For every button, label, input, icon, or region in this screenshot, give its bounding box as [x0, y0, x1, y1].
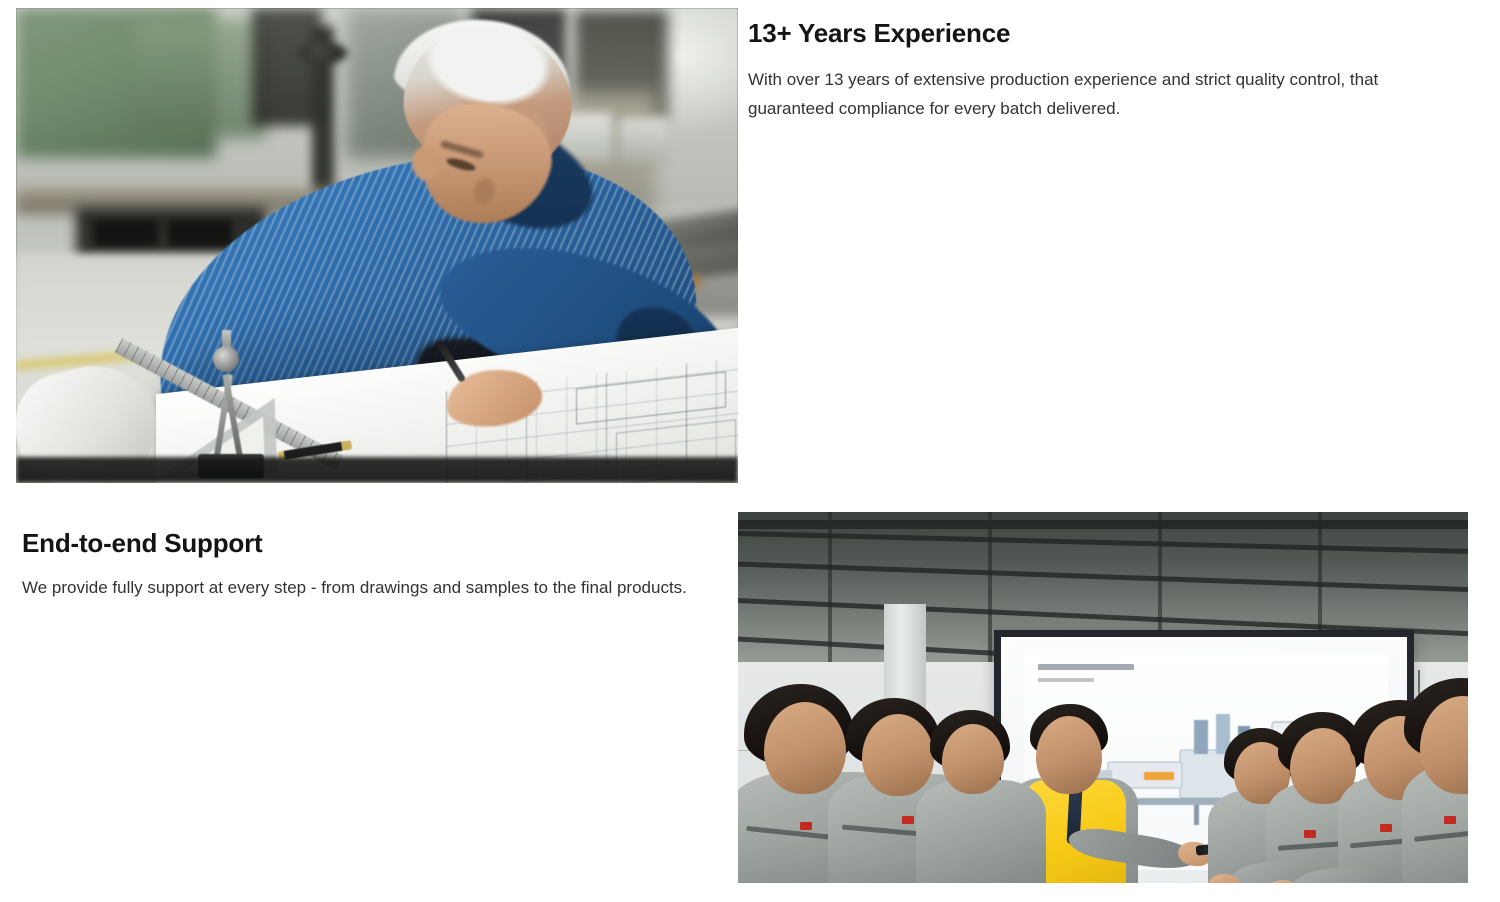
uniform-logo [1304, 830, 1316, 838]
feature-experience-title: 13+ Years Experience [748, 18, 1500, 49]
factory-training-photo [738, 512, 1468, 883]
feature-experience-text: 13+ Years Experience With over 13 years … [738, 0, 1500, 124]
machine-knob-icon [299, 42, 347, 64]
feature-experience-body: With over 13 years of extensive producti… [748, 65, 1438, 123]
slide-subtitle-placeholder [1038, 678, 1094, 682]
engineer-ear [412, 146, 438, 180]
green-machine-secondary-icon [136, 18, 266, 138]
uniform-logo [902, 816, 914, 824]
roof-beam [738, 520, 1468, 529]
workbench-drawer-slot [94, 220, 158, 246]
attendee-uniform [916, 780, 1046, 883]
machine-gauge-secondary-icon [620, 118, 668, 162]
feature-support-text-cell: End-to-end Support We provide fully supp… [0, 506, 738, 902]
feature-support-image-cell [738, 506, 1500, 902]
uniform-logo [800, 822, 812, 830]
feature-experience-image-cell [0, 0, 738, 506]
attendee-head [862, 714, 934, 796]
workbench-drawer-slot [168, 220, 232, 246]
engineer-blueprint-photo [16, 8, 738, 483]
feature-experience-text-cell: 13+ Years Experience With over 13 years … [738, 0, 1500, 506]
feature-support-text: End-to-end Support We provide fully supp… [0, 506, 738, 602]
presenter-head [1036, 716, 1102, 794]
uniform-logo [1444, 816, 1456, 824]
uniform-logo [1380, 824, 1392, 832]
attendee-head [942, 724, 1004, 794]
compass-hinge-icon [213, 346, 239, 372]
slide-title-placeholder [1038, 664, 1134, 670]
desk-edge [16, 457, 738, 483]
feature-support-title: End-to-end Support [22, 528, 738, 559]
feature-grid: 13+ Years Experience With over 13 years … [0, 0, 1500, 902]
feature-support-body: We provide fully support at every step -… [22, 573, 722, 602]
attendee-head [764, 702, 846, 794]
